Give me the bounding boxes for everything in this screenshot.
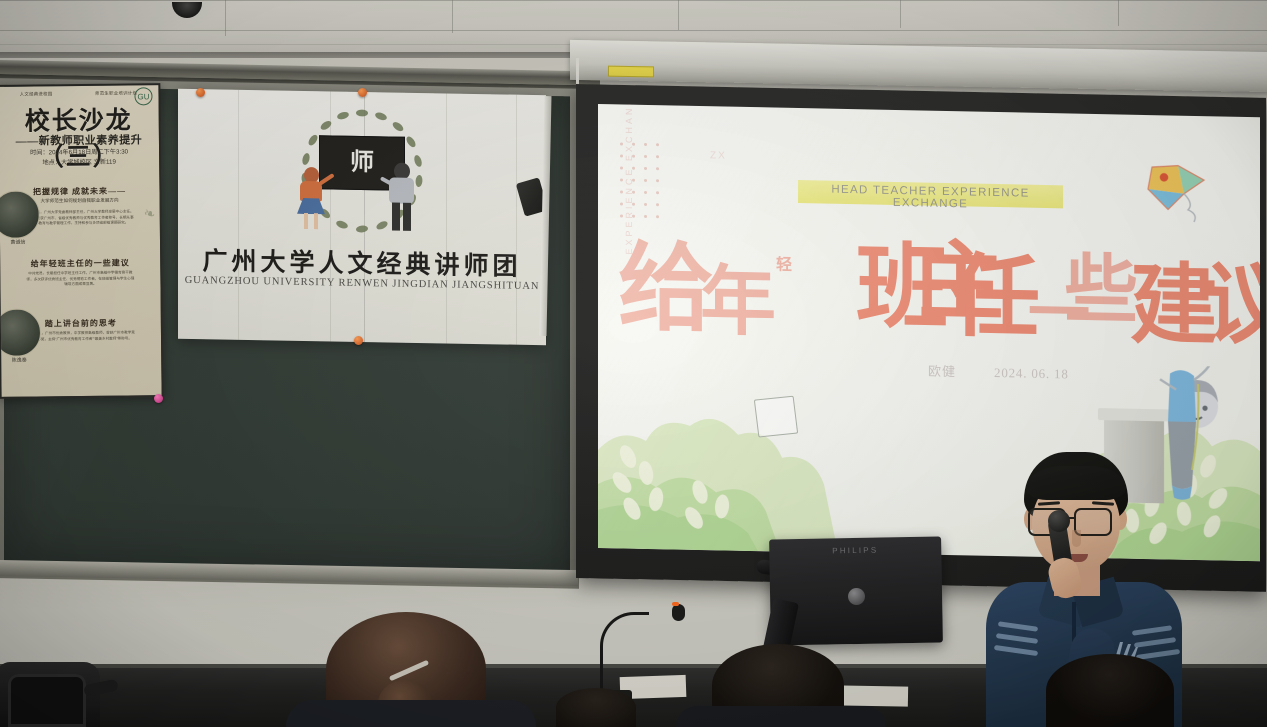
event-poster: 人文经典进校园 师范生职业培训计划 GU 校长沙龙（三） ——新教师职业素养提升… <box>0 83 164 399</box>
desk-microphone-head <box>672 604 685 621</box>
title-char-7: 些 <box>1064 253 1138 328</box>
slide-date: 2024. 06. 18 <box>994 365 1069 382</box>
handheld-microphone-head <box>1048 510 1070 532</box>
dome-camera-icon <box>172 2 202 18</box>
slide-title: 给 年 轻 班 主 任 一 些 建 议 <box>618 222 1258 355</box>
banner-boy-figure <box>388 162 416 230</box>
kite-icon <box>1138 163 1208 224</box>
banner-pin <box>358 88 367 97</box>
monitor-mount-knob <box>848 588 865 605</box>
audience-head <box>1046 654 1174 727</box>
microphone-led-icon <box>672 602 679 606</box>
slide-eyebrow-text: HEAD TEACHER EXPERIENCE EXCHANGE <box>798 183 1063 212</box>
poster-section-1-heading: 给年轻班主任的一些建议 <box>0 257 160 270</box>
audience-shoulders <box>676 706 886 727</box>
slide-note-card <box>754 396 798 438</box>
paper-sheet <box>836 685 908 706</box>
lecturer-team-banner: 师 广州大学人文经典讲师团 GUANGZHOU UNIVERSITY RENWE… <box>178 89 546 345</box>
speaker-name-0: 黄诚信 <box>0 238 36 245</box>
banner-girl-figure <box>298 167 324 229</box>
speaker-photo-1 <box>0 308 41 357</box>
title-char-2: 轻 <box>776 258 792 274</box>
slide-byline: 欧健 2024. 06. 18 <box>928 361 1178 385</box>
audience-head <box>556 688 636 727</box>
poster-section-1-body: 中共党员，长期担任中学班主任工作，广州市高级中学德育骨干教师，多次获评优秀班主任… <box>0 270 160 288</box>
audience-shoulders <box>286 700 536 727</box>
title-char-1: 年 <box>700 264 776 342</box>
warning-label-icon <box>608 66 654 78</box>
poster-place: 地点：大学城校区 文新119 <box>0 157 159 168</box>
presenter-fringe <box>1026 466 1126 500</box>
poster-subtitle: ——新教师职业素养提升 <box>0 131 159 149</box>
banner-pin <box>354 336 363 345</box>
speaker-name-1: 陈逸泰 <box>1 356 37 363</box>
title-char-9: 议 <box>1204 262 1260 352</box>
slide-presenter-name: 欧健 <box>928 361 956 381</box>
banner-pin <box>196 88 205 97</box>
poster-top-right-text: 师范生职业培训计划 <box>95 90 137 96</box>
lecture-hall-photo: 人文经典进校园 师范生职业培训计划 GU 校长沙龙（三） ——新教师职业素养提升… <box>0 0 1267 727</box>
presenter-nose <box>1072 530 1081 547</box>
poster-top-left-text: 人文经典进校园 <box>20 91 53 97</box>
poster-pin <box>154 394 163 403</box>
title-char-5: 任 <box>950 253 1040 345</box>
banner-emblem-char: 师 <box>350 142 374 177</box>
glasses-icon <box>1028 508 1126 532</box>
slide-ghost-text: ZX <box>710 150 727 161</box>
monitor-brand-label: PHILIPS <box>769 545 941 557</box>
poster-time: 时间：2024年6月18日周二下午3:30 <box>0 147 159 158</box>
office-chair-backrest <box>8 674 86 727</box>
desk-microphone-neck <box>600 612 649 697</box>
